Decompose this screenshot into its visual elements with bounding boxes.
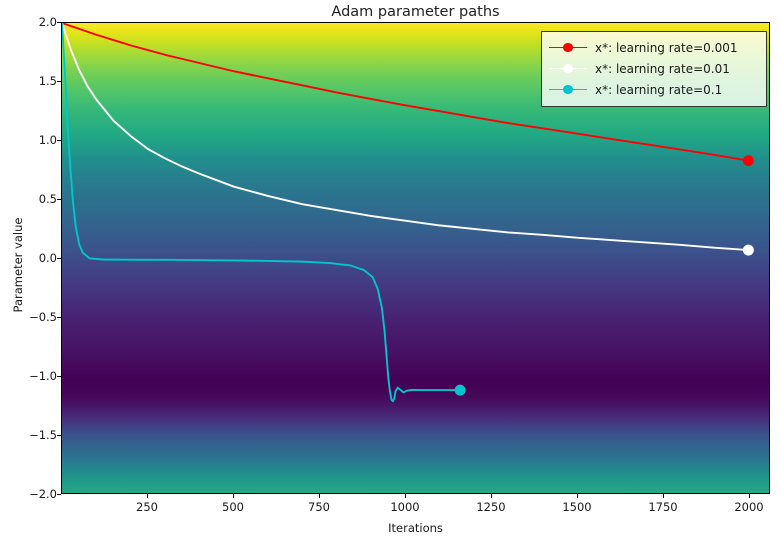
legend-marker-line-icon <box>549 62 587 76</box>
y-tick-label: 0.5 <box>39 192 57 206</box>
y-tick-label: 1.5 <box>39 74 57 88</box>
legend-dot <box>563 64 573 74</box>
y-tick-mark <box>57 376 61 377</box>
y-tick-label: −1.5 <box>29 428 57 442</box>
x-tick-mark <box>577 494 578 498</box>
legend-dot <box>563 85 573 95</box>
y-tick-mark <box>57 435 61 436</box>
legend-item: x*: learning rate=0.01 <box>549 58 759 79</box>
y-tick-mark <box>57 140 61 141</box>
y-tick-mark <box>57 81 61 82</box>
y-tick-mark <box>57 22 61 23</box>
y-tick-mark <box>57 317 61 318</box>
x-tick-mark <box>233 494 234 498</box>
legend-item: x*: learning rate=0.1 <box>549 79 759 100</box>
x-tick-label: 500 <box>222 500 244 514</box>
x-tick-label: 250 <box>136 500 158 514</box>
x-tick-mark <box>491 494 492 498</box>
y-tick-label: −1.0 <box>29 369 57 383</box>
y-tick-mark <box>57 494 61 495</box>
x-tick-label: 1750 <box>648 500 677 514</box>
x-tick-label: 1000 <box>390 500 419 514</box>
x-tick-mark <box>319 494 320 498</box>
x-tick-mark <box>147 494 148 498</box>
series-endpoint-marker-1 <box>743 245 754 256</box>
y-tick-label: −2.0 <box>29 487 57 501</box>
y-axis-label: Parameter value <box>11 165 25 365</box>
y-tick-label: 2.0 <box>39 15 57 29</box>
x-tick-label: 1250 <box>476 500 505 514</box>
x-tick-mark <box>663 494 664 498</box>
figure: Adam parameter paths 2.0 1.5 1.0 0.5 0.0… <box>0 0 780 547</box>
x-tick-label: 1500 <box>562 500 591 514</box>
legend-item-label: x*: learning rate=0.1 <box>595 83 722 97</box>
x-axis-label: Iterations <box>61 521 770 535</box>
x-tick-mark <box>405 494 406 498</box>
series-endpoint-marker-0 <box>743 155 754 166</box>
legend-marker-line-icon <box>549 41 587 55</box>
y-tick-label: 0.0 <box>39 251 57 265</box>
y-tick-label: 1.0 <box>39 133 57 147</box>
y-tick-mark <box>57 199 61 200</box>
page-title: Adam parameter paths <box>61 2 770 22</box>
series-line-2 <box>62 23 460 401</box>
x-tick-label: 750 <box>308 500 330 514</box>
legend-item-label: x*: learning rate=0.01 <box>595 62 730 76</box>
legend-marker-line-icon <box>549 83 587 97</box>
x-tick-mark <box>749 494 750 498</box>
legend-item-label: x*: learning rate=0.001 <box>595 41 738 55</box>
legend-item: x*: learning rate=0.001 <box>549 37 759 58</box>
legend[interactable]: x*: learning rate=0.001 x*: learning rat… <box>541 31 767 107</box>
y-tick-label: −0.5 <box>29 310 57 324</box>
legend-dot <box>563 43 573 53</box>
series-endpoint-marker-2 <box>455 385 466 396</box>
x-tick-label: 2000 <box>734 500 763 514</box>
y-tick-mark <box>57 258 61 259</box>
